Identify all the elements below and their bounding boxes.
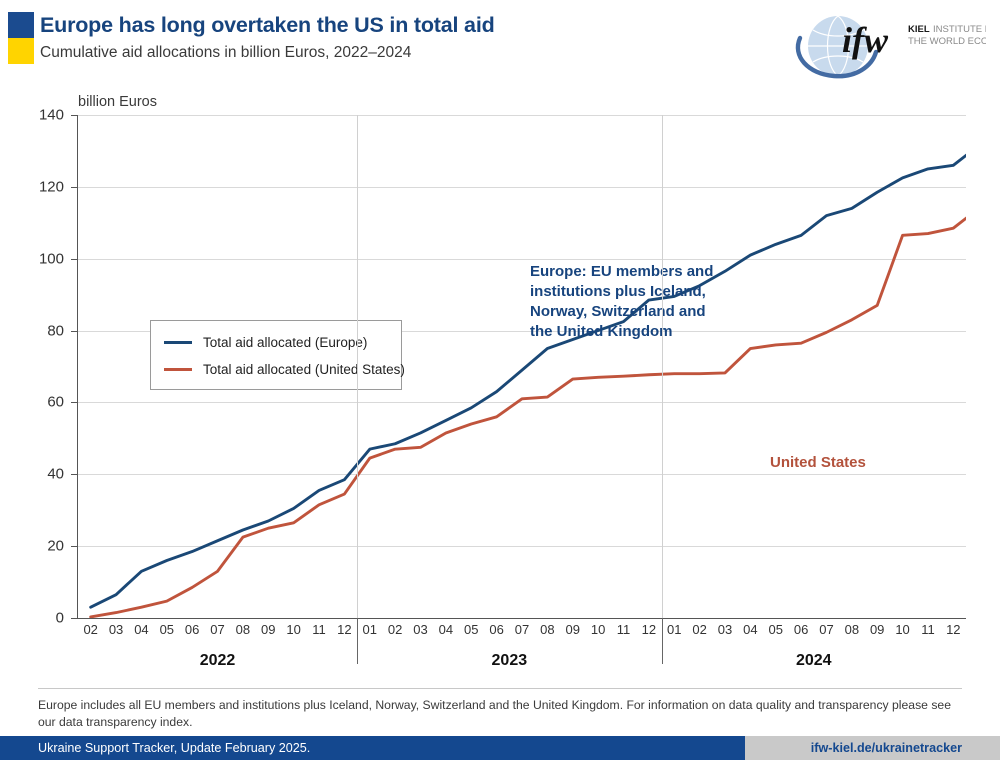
y-tick-120 [71,187,78,188]
logo-globe-icon: ifw KIEL INSTITUTE FOR THE WORLD ECONOMY [786,8,986,80]
x-axis-label-2022-09: 09 [261,622,275,637]
x-axis-label-2024-09: 09 [870,622,884,637]
x-axis-label-2022-12: 12 [337,622,351,637]
x-axis-label-2023-07: 07 [515,622,529,637]
footnote-divider [38,688,962,689]
logo-institute-line1: INSTITUTE FOR [933,24,986,35]
x-axis-label-2023-03: 03 [413,622,427,637]
x-axis-label-2023-11: 11 [617,622,631,637]
y-axis-label-120: 120 [39,178,64,195]
page-subtitle: Cumulative aid allocations in billion Eu… [40,44,411,62]
ifw-kiel-logo: ifw KIEL INSTITUTE FOR THE WORLD ECONOMY [786,8,986,80]
annotation-united-states: United States [770,454,866,471]
x-axis-label-2022-07: 07 [210,622,224,637]
legend-item-europe[interactable]: Total aid allocated (Europe) [164,335,367,350]
y-axis-label-100: 100 [39,250,64,267]
x-axis-label-2022-02: 02 [83,622,97,637]
x-axis-label-2024-11: 11 [921,622,935,637]
y-tick-100 [71,259,78,260]
x-axis-label-2024-06: 06 [794,622,808,637]
x-axis-label-2023-12: 12 [642,622,656,637]
x-axis: 0203040506070809101112010203040506070809… [78,618,966,688]
footer-bar: Ukraine Support Tracker, Update February… [0,736,1000,760]
x-axis-label-2022-03: 03 [109,622,123,637]
chart: billion Euros 020406080100120140 0203040… [0,92,1000,688]
x-axis-label-2023-10: 10 [591,622,605,637]
footnote-text: Europe includes all EU members and insti… [38,697,968,732]
y-axis-label-40: 40 [47,466,64,483]
x-axis-label-2023-06: 06 [489,622,503,637]
x-axis-label-2023-05: 05 [464,622,478,637]
y-axis-ticks: 020406080100120140 [0,115,78,618]
page-title: Europe has long overtaken the US in tota… [40,13,495,38]
y-axis-label-80: 80 [47,322,64,339]
x-axis-label-2024-05: 05 [768,622,782,637]
x-axis-label-2023-01: 01 [363,622,377,637]
chart-page: Europe has long overtaken the US in tota… [0,0,1000,760]
x-axis-label-2023-08: 08 [540,622,554,637]
plot-year-divider-2024 [662,115,663,618]
x-axis-year-2024: 2024 [796,652,832,670]
x-axis-label-2022-06: 06 [185,622,199,637]
footer-source-text: Ukraine Support Tracker, Update February… [38,741,310,755]
y-tick-0 [71,618,78,619]
logo-institute-line2: THE WORLD ECONOMY [908,36,986,47]
x-axis-label-2022-04: 04 [134,622,148,637]
flag-blue-band [8,12,34,38]
x-axis-label-2024-10: 10 [895,622,909,637]
x-axis-label-2024-01: 01 [667,622,681,637]
legend-label-europe: Total aid allocated (Europe) [203,335,367,350]
y-axis-label-0: 0 [56,610,64,627]
legend-swatch-europe [164,341,192,344]
footer-url-link[interactable]: ifw-kiel.de/ukrainetracker [811,741,962,755]
x-axis-label-2022-11: 11 [312,622,326,637]
y-axis-label-20: 20 [47,538,64,555]
svg-text:ifw: ifw [842,20,889,60]
y-tick-80 [71,331,78,332]
logo-kiel-text: KIEL [908,24,930,35]
x-axis-label-2024-04: 04 [743,622,757,637]
x-axis-label-2022-08: 08 [236,622,250,637]
annotation-europe: Europe: EU members and institutions plus… [530,262,713,342]
x-axis-label-2023-02: 02 [388,622,402,637]
y-tick-20 [71,546,78,547]
x-axis-label-2024-03: 03 [718,622,732,637]
legend-item-united-states[interactable]: Total aid allocated (United States) [164,362,405,377]
y-axis-label-140: 140 [39,107,64,124]
y-tick-60 [71,402,78,403]
x-axis-label-2022-05: 05 [160,622,174,637]
x-axis-label-2024-02: 02 [692,622,706,637]
y-tick-140 [71,115,78,116]
header: Europe has long overtaken the US in tota… [0,0,1000,92]
legend-swatch-united-states [164,368,192,371]
y-axis-label-60: 60 [47,394,64,411]
plot-year-divider-2023 [357,115,358,618]
x-axis-label-2024-07: 07 [819,622,833,637]
x-axis-label-2022-10: 10 [286,622,300,637]
x-axis-year-2022: 2022 [200,652,236,670]
ukraine-flag-accent [8,12,34,64]
series-line-united-states [91,208,966,617]
x-axis-label-2023-04: 04 [439,622,453,637]
flag-yellow-band [8,38,34,64]
x-axis-label-2024-12: 12 [946,622,960,637]
x-axis-label-2024-08: 08 [845,622,859,637]
legend-label-united-states: Total aid allocated (United States) [203,362,405,377]
x-axis-label-2023-09: 09 [566,622,580,637]
y-tick-40 [71,474,78,475]
x-axis-year-2023: 2023 [492,652,528,670]
y-axis-unit-label: billion Euros [78,94,157,110]
legend: Total aid allocated (Europe) Total aid a… [150,320,402,390]
